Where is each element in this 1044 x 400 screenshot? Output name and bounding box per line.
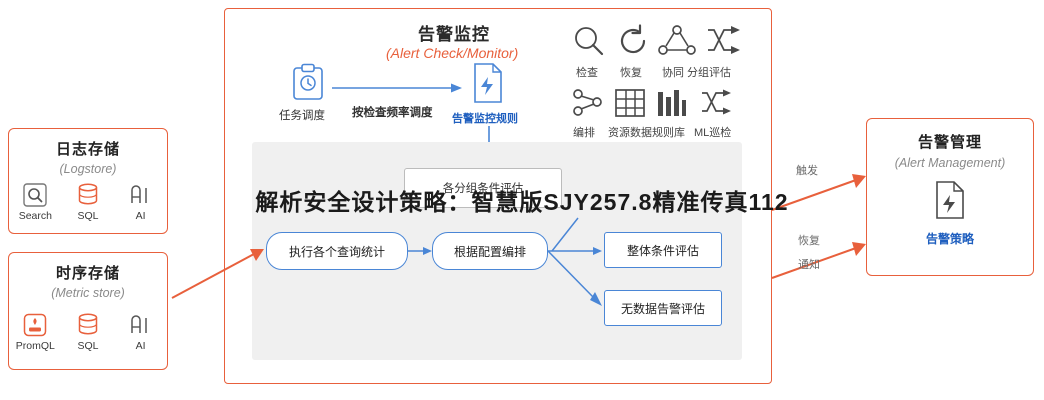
node-overall-condition-label: 整体条件评估 <box>627 242 699 259</box>
ml-inspect-label: ML巡检 <box>694 124 731 140</box>
node-no-data-alert[interactable]: 无数据告警评估 <box>604 290 722 326</box>
restore-edge-label: 恢复 <box>798 232 820 248</box>
group-eval-label: 协同 分组评估 <box>662 64 731 80</box>
restore-label: 恢复 <box>620 64 642 80</box>
promql-icon-label: PromQL <box>16 340 55 352</box>
card-logstore: 日志存储 (Logstore) Search SQL <box>8 128 168 234</box>
metric-sql-icon-group: SQL <box>62 312 114 352</box>
card-alert-title-cn: 告警管理 <box>918 131 982 152</box>
resource-data-label: 资源数据 <box>608 124 652 140</box>
alert-rule-icon <box>470 62 506 104</box>
card-logstore-title-en: (Logstore) <box>60 162 117 176</box>
card-metric-store: 时序存储 (Metric store) PromQL SQL <box>8 252 168 370</box>
task-schedule-label: 任务调度 <box>279 107 325 123</box>
restore-icon <box>616 24 650 58</box>
node-query-stats[interactable]: 执行各个查询统计 <box>266 232 408 270</box>
inspect-icon <box>572 24 606 58</box>
orchestrate-label: 编排 <box>573 124 595 140</box>
arrow-restore-notify <box>772 236 872 284</box>
promql-icon-group: PromQL <box>9 312 61 352</box>
alert-policy-label: 告警策略 <box>926 230 974 247</box>
diagram-title-cn: 告警监控 <box>418 20 490 45</box>
card-metric-icons: PromQL SQL AI <box>9 312 167 352</box>
rule-library-label: 规则库 <box>652 124 685 140</box>
database-icon <box>75 312 101 338</box>
promql-icon <box>22 312 48 338</box>
diagram-canvas: 日志存储 (Logstore) Search SQL <box>0 0 1044 400</box>
task-schedule-icon <box>290 64 326 102</box>
group-icon <box>658 24 696 58</box>
watermark-text: 解析安全设计策略：智慧版SJY257.8精准传真112 <box>0 183 1044 217</box>
arrow-query-to-arrange <box>408 240 436 262</box>
shuffle-icon <box>706 24 744 58</box>
metric-ai-icon-label: AI <box>136 340 146 352</box>
trigger-label: 触发 <box>796 162 818 178</box>
ai-icon <box>128 312 154 338</box>
arrow-task-to-rule <box>332 78 464 98</box>
ml-inspect-icon <box>700 88 736 118</box>
card-metric-title-en: (Metric store) <box>51 286 125 300</box>
node-overall-condition[interactable]: 整体条件评估 <box>604 232 722 268</box>
rule-library-icon <box>656 88 688 118</box>
orchestrate-icon <box>570 88 604 118</box>
inspect-label: 检查 <box>576 64 598 80</box>
arrow-arrange-to-eval <box>548 210 608 320</box>
card-alert-title-en: (Alert Management) <box>895 156 1005 170</box>
metric-ai-icon-group: AI <box>115 312 167 352</box>
metric-sql-icon-label: SQL <box>77 340 98 352</box>
node-arrange-by-config-label: 根据配置编排 <box>454 243 526 260</box>
resource-data-icon <box>614 88 646 118</box>
frequency-schedule-label: 按检查频率调度 <box>352 104 433 120</box>
node-query-stats-label: 执行各个查询统计 <box>289 243 385 260</box>
node-no-data-alert-label: 无数据告警评估 <box>621 300 705 317</box>
notify-edge-label: 通知 <box>798 256 820 272</box>
diagram-title-en: (Alert Check/Monitor) <box>386 45 518 61</box>
node-arrange-by-config[interactable]: 根据配置编排 <box>432 232 548 270</box>
arrow-logstore-to-panel <box>172 236 268 306</box>
alert-rule-label: 告警监控规则 <box>452 110 518 126</box>
card-logstore-title-cn: 日志存储 <box>56 138 120 159</box>
card-metric-title-cn: 时序存储 <box>56 262 120 283</box>
